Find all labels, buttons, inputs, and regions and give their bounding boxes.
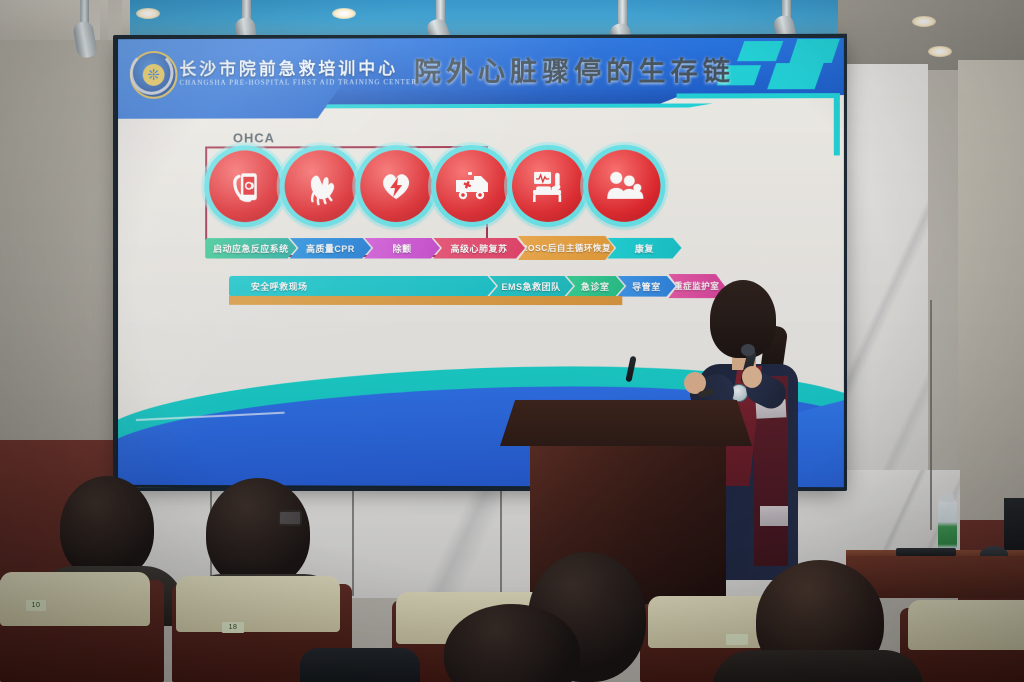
slide-title: 院外心脏骤停的生存链: [364, 49, 785, 89]
ceiling-lamp-icon: [136, 8, 160, 19]
bottle-cap: [941, 494, 954, 502]
right-wall: [958, 60, 1024, 520]
keyboard: [896, 548, 956, 556]
heart-defib-icon: [376, 166, 416, 206]
seat-number: [726, 634, 748, 645]
chevron-row-primary: 启动应急反应系统 高质量CPR 除颤 高级心肺复苏 ROSC后自主循环恢复 康复: [205, 236, 681, 260]
chain-node: [360, 150, 432, 222]
left-wall: [0, 40, 126, 470]
audience-head: [60, 476, 154, 580]
deco-line: [677, 93, 840, 98]
screenshot-root: ❊ 长沙市院前急救培训中心 CHANGSHA PRE-HOSPITAL FIRS…: [0, 0, 1024, 682]
chevron-underbar: [229, 296, 622, 305]
chain-node: [436, 150, 508, 222]
chair-backrest-pad: [176, 576, 340, 632]
panel-seam: [930, 300, 932, 530]
chevron-step: ROSC后自主循环恢复: [518, 236, 614, 260]
chevron-row-secondary: 安全呼救现场 EMS急救团队 急诊室 导管室 重症监护室: [229, 274, 725, 298]
audience-head: [206, 478, 310, 588]
presenter-right-hand: [742, 366, 762, 388]
panel-seam: [352, 468, 354, 596]
hospital-bed-icon: [527, 166, 569, 206]
presenter-reflective-stripe: [760, 506, 788, 526]
microphone-head: [741, 344, 755, 356]
chain-node: [588, 150, 660, 222]
panel-seam: [500, 468, 502, 596]
chain-node: [209, 150, 280, 222]
chain-node: [512, 150, 584, 222]
eyeglasses-icon: [278, 510, 302, 526]
chair-backrest-pad: [0, 572, 150, 626]
ceiling-lamp-icon: [912, 16, 936, 27]
ceiling-lamp-icon: [928, 46, 952, 57]
phone-call-icon: [226, 167, 264, 205]
chevron-step: EMS急救团队: [489, 276, 573, 297]
podium-top: [500, 400, 752, 446]
ambulance-icon: [451, 166, 493, 206]
chevron-step: 除颤: [364, 238, 440, 259]
chevron-step: 高质量CPR: [290, 238, 372, 259]
seat-number: 18: [222, 622, 244, 633]
ceiling-lamp-icon: [332, 8, 356, 19]
wreath-icon: [130, 51, 174, 95]
audience-bag: [300, 648, 420, 682]
chevron-step: 康复: [607, 237, 681, 258]
monitor-back: [1004, 498, 1024, 554]
seat-number: 10: [26, 600, 46, 611]
chevron-step: 安全呼救现场: [229, 275, 496, 296]
chevron-step: 导管室: [617, 276, 675, 297]
cpr-hands-icon: [301, 166, 341, 206]
chevron-step: 急诊室: [566, 276, 624, 297]
chevron-step: 启动应急反应系统: [205, 238, 296, 259]
audience-shoulders: [712, 650, 924, 682]
family-group-icon: [602, 166, 646, 206]
ohca-label: OHCA: [233, 130, 275, 145]
deco-shape: [789, 39, 839, 63]
chevron-step: 高级心肺复苏: [433, 237, 525, 258]
chair-backrest-pad: [908, 600, 1024, 650]
chain-of-survival-icons: [209, 150, 660, 222]
chain-node: [285, 150, 357, 222]
deco-line: [834, 93, 840, 155]
